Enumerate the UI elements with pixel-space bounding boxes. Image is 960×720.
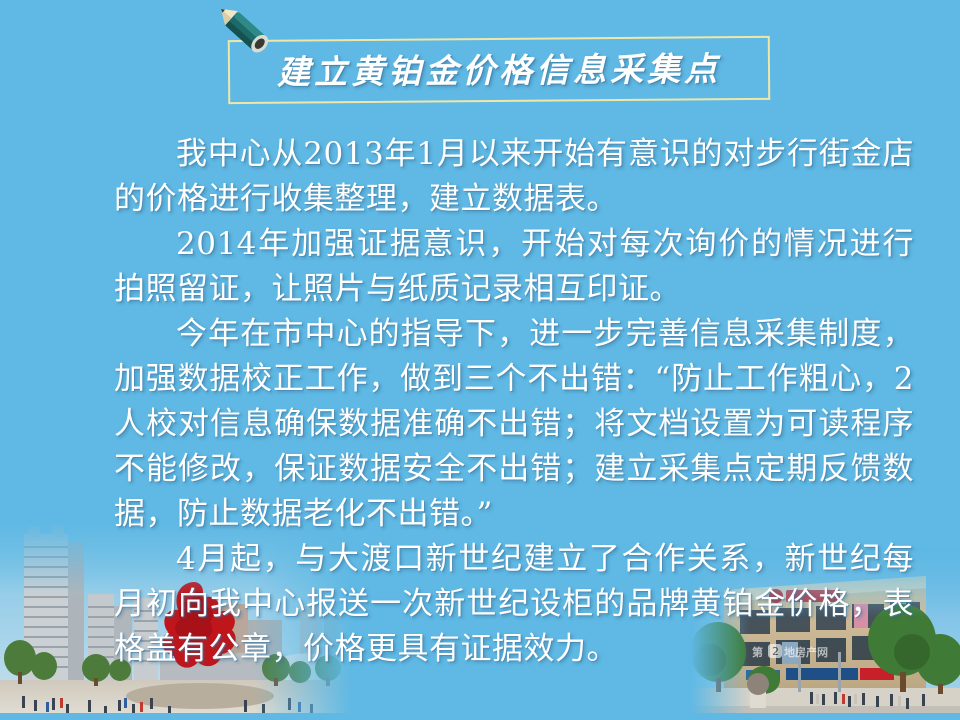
bottom-strip [0, 713, 960, 720]
page-title: 建立黄铂金价格信息采集点 [228, 38, 770, 104]
paragraph: 2014年加强证据意识，开始对每次询价的情况进行拍照留证，让照片与纸质记录相互印… [114, 222, 914, 312]
body-text: 我中心从2013年1月以来开始有意识的对步行街金店的价格进行收集整理，建立数据表… [114, 132, 914, 672]
pencil-icon-glyph [206, 2, 282, 64]
paragraph: 我中心从2013年1月以来开始有意识的对步行街金店的价格进行收集整理，建立数据表… [114, 132, 914, 222]
presentation-slide: 2 第 地房产网 建立黄铂金价格信息采集点 [0, 0, 960, 720]
paragraph: 今年在市中心的指导下，进一步完善信息采集制度，加强数据校正工作，做到三个不出错：… [114, 312, 914, 537]
paragraph: 4月起，与大渡口新世纪建立了合作关系，新世纪每月初向我中心报送一次新世纪设柜的品… [114, 537, 914, 672]
pencil-icon [206, 2, 282, 64]
